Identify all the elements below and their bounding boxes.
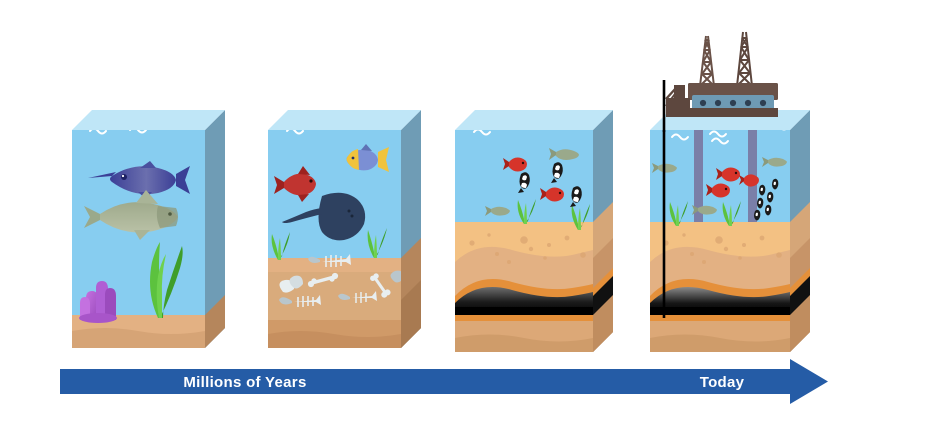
rig-left-block [666, 98, 690, 110]
panel-4-oil-band [650, 307, 790, 315]
panel-4-orange-under [650, 315, 790, 321]
panel-3-orange-under [455, 315, 593, 321]
panel-3-oil-band [455, 307, 593, 315]
panel-3-oil-formation [455, 110, 613, 352]
panel-1-top-face [72, 110, 225, 130]
panel-1-ancient-sea [72, 110, 225, 348]
panel-2-top-face [268, 110, 421, 130]
panel-3-top-face [455, 110, 613, 130]
timeline-label-today: Today [700, 374, 745, 391]
timeline-label-millions: Millions of Years [183, 374, 306, 391]
oil-formation-infographic: Millions of Years Today [0, 0, 925, 430]
panel-2-fossil-burial [268, 110, 421, 348]
